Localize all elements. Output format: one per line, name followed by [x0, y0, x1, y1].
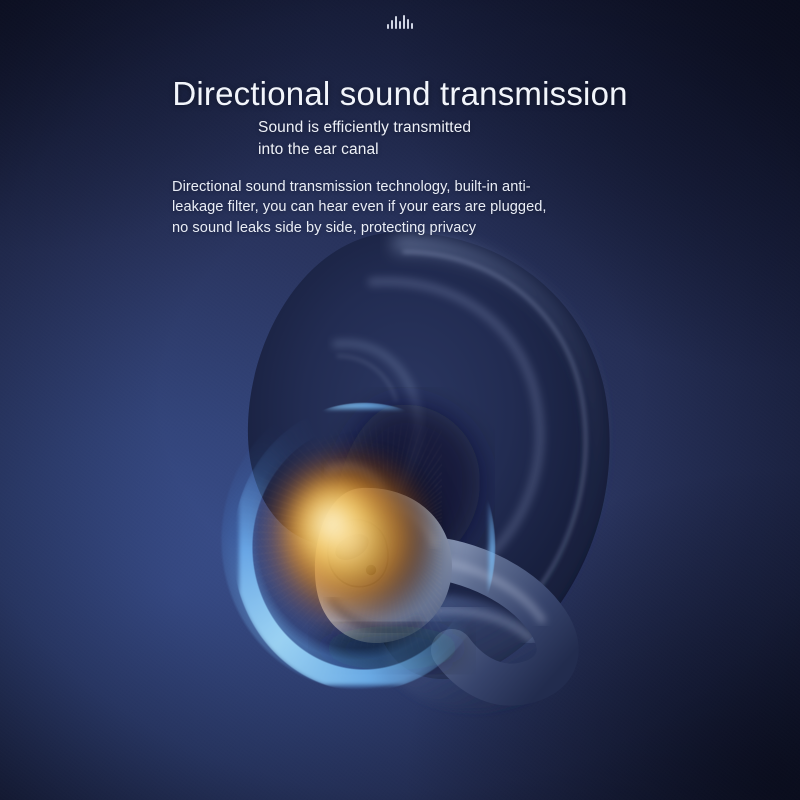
- body-line-1: Directional sound transmission technolog…: [172, 177, 547, 197]
- subtitle-line-1: Sound is efficiently transmitted: [258, 117, 471, 139]
- body-line-3: no sound leaks side by side, protecting …: [172, 218, 547, 238]
- earbud-contact-shadow: [322, 626, 462, 670]
- pressure-vent-hole: [366, 565, 376, 575]
- body-description: Directional sound transmission technolog…: [172, 177, 547, 238]
- product-feature-poster: Directional sound transmission Sound is …: [0, 0, 800, 800]
- body-line-2: leakage filter, you can hear even if you…: [172, 197, 547, 217]
- subtitle: Sound is efficiently transmitted into th…: [258, 117, 471, 161]
- sound-waveform-icon: [0, 9, 800, 29]
- page-title: Directional sound transmission: [0, 74, 800, 114]
- subtitle-line-2: into the ear canal: [258, 139, 471, 161]
